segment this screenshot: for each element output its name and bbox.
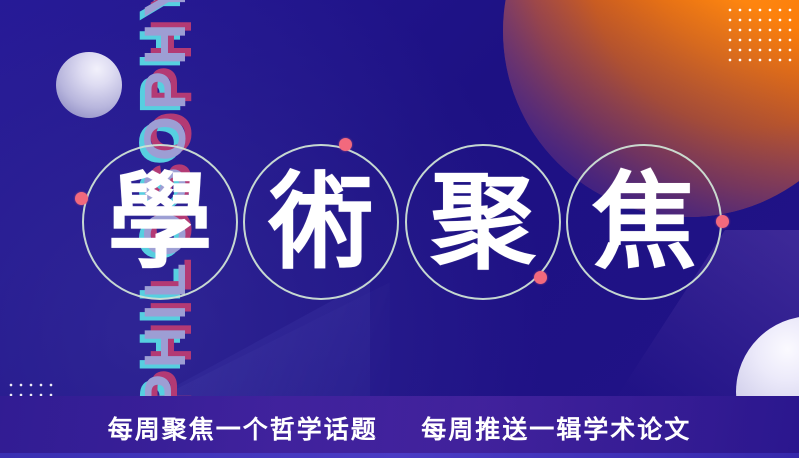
title-character-2: 術 xyxy=(268,170,373,275)
title-character-4: 焦 xyxy=(591,170,696,275)
title-char-unit-2: 術 xyxy=(243,144,399,300)
tagline-right: 每周推送一辑学术论文 xyxy=(421,415,691,444)
title-character-1: 學 xyxy=(107,170,212,275)
accent-dot-icon-3 xyxy=(534,271,547,284)
title-char-unit-1: 學 xyxy=(82,144,238,300)
title-char-unit-4: 焦 xyxy=(566,144,722,300)
accent-dot-icon-2 xyxy=(339,138,352,151)
bottom-rule xyxy=(0,453,799,458)
tagline-left: 每周聚焦一个哲学话题 xyxy=(108,415,378,444)
tagline: 每周聚焦一个哲学话题 每周推送一辑学术论文 xyxy=(0,410,799,446)
accent-dot-icon-4 xyxy=(716,215,729,228)
title-ring-group: 學 術 聚 焦 xyxy=(0,0,799,458)
accent-dot-icon-1 xyxy=(75,192,88,205)
title-char-unit-3: 聚 xyxy=(405,144,561,300)
title-character-3: 聚 xyxy=(430,170,535,275)
philosophy-banner: PHILOSOPHY PHILOSOPHY PHILOSOPHY 學 術 聚 焦 xyxy=(0,0,799,458)
